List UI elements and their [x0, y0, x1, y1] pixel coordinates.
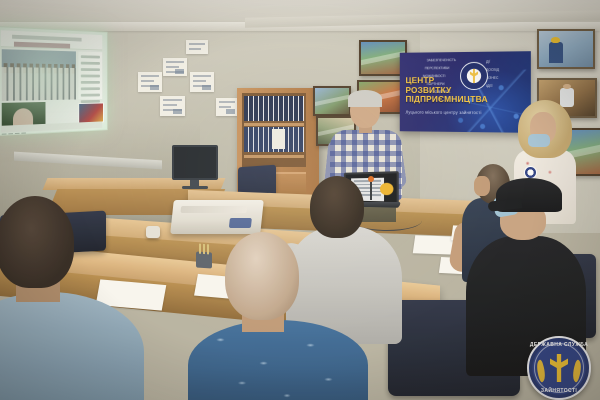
wall-notice: [190, 72, 214, 92]
shelf-paper-stack: [272, 129, 285, 149]
attendee-blue-tshirt-body: [0, 292, 144, 400]
wall-notice: [216, 98, 238, 116]
employment-service-logo-icon: ДЕРЖАВНА СЛУЖБА ЗАЙНЯТОСТІ: [527, 336, 591, 400]
logo-top-text: ДЕРЖАВНА СЛУЖБА: [529, 342, 589, 348]
cabinet-shelves: [242, 93, 306, 167]
wall-notice: [186, 40, 208, 54]
framed-painting: [313, 86, 351, 116]
staff-woman-face-mask: [528, 134, 550, 147]
pen-holder: [196, 251, 212, 268]
wall-notice: [160, 96, 185, 116]
attendee-bald-head: [225, 232, 299, 320]
attendee-blue-tshirt-head: [0, 196, 74, 288]
laptop-screen-highlight: [380, 183, 393, 195]
binder-row-top: [244, 96, 304, 121]
banner-keyword: ПЕРСПЕКТИВИ: [425, 66, 450, 70]
desktop-monitor: [172, 145, 218, 180]
projector: [170, 200, 264, 234]
centre-banner: ЗАБЕЗПЕЧЕНІСТЬ ПЕРСПЕКТИВИ МОЖЛИВОСТІ ПА…: [400, 51, 531, 133]
attendee-navy-shirt-face: [474, 176, 490, 196]
attendee-grey-shirt-head: [310, 176, 364, 238]
microphone-stem: [370, 182, 372, 200]
banner-subtitle: Луцького міського центру зайнятості: [406, 110, 484, 115]
projection-screen: [0, 26, 108, 136]
monitor-base: [182, 186, 208, 189]
projector-glow: [0, 27, 107, 135]
attendee-bald-shirt: [188, 320, 368, 400]
projector-lens: [146, 226, 160, 238]
banner-keyword: ДОСВІД: [486, 68, 499, 72]
wall-notice: [163, 58, 187, 76]
monitor-screen: [172, 145, 218, 180]
banner-keyword: ЗАБЕЗПЕЧЕНІСТЬ: [427, 58, 456, 62]
banner-keyword: ІДЕЇ: [486, 84, 493, 88]
ceiling-cornice: [0, 22, 600, 31]
shelf-divider: [244, 155, 304, 158]
banner-title-line3: ПІДПРИЄМНИЦТВА: [406, 95, 476, 105]
shelf-divider: [244, 123, 304, 126]
seminar-room-photograph: ЗАБЕЗПЕЧЕНІСТЬ ПЕРСПЕКТИВИ МОЖЛИВОСТІ ПА…: [0, 0, 600, 400]
banner-title: ЦЕНТР РОЗВИТКУ ПІДПРИЄМНИЦТВА: [406, 76, 476, 105]
banner-keyword: ДІЇ: [486, 60, 490, 64]
wall-notice: [138, 72, 162, 92]
presenter-hair: [348, 90, 382, 107]
logo-bottom-text: ЗАЙНЯТОСТІ: [529, 388, 589, 394]
photo-construction-worker: [537, 29, 595, 69]
